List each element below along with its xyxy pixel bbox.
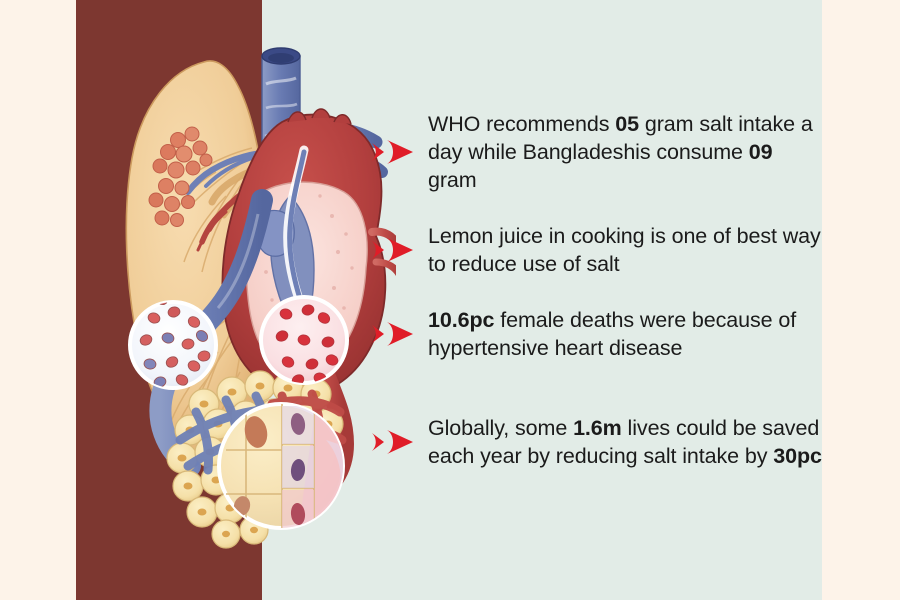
fact-text-3: 10.6pc female deaths were because of hyp… — [428, 306, 822, 362]
fact-item-1: WHO recommends 05 gram salt intake a day… — [370, 110, 822, 194]
fact-item-2: Lemon juice in cooking is one of best wa… — [370, 222, 822, 278]
fact-text-4: Globally, some 1.6m lives could be saved… — [428, 414, 822, 470]
right-frame-margin — [822, 0, 900, 600]
double-chevron-right-icon — [370, 425, 416, 459]
infographic-canvas: WHO recommends 05 gram salt intake a day… — [0, 0, 900, 600]
fact-text-1: WHO recommends 05 gram salt intake a day… — [428, 110, 822, 194]
fact-text-2: Lemon juice in cooking is one of best wa… — [428, 222, 822, 278]
double-chevron-right-icon — [370, 135, 416, 169]
fact-item-3: 10.6pc female deaths were because of hyp… — [370, 306, 822, 362]
double-chevron-right-icon — [370, 317, 416, 351]
facts-list: WHO recommends 05 gram salt intake a day… — [370, 0, 822, 600]
double-chevron-right-icon — [370, 233, 416, 267]
fact-item-4: Globally, some 1.6m lives could be saved… — [370, 414, 822, 470]
left-color-panel — [76, 0, 262, 600]
